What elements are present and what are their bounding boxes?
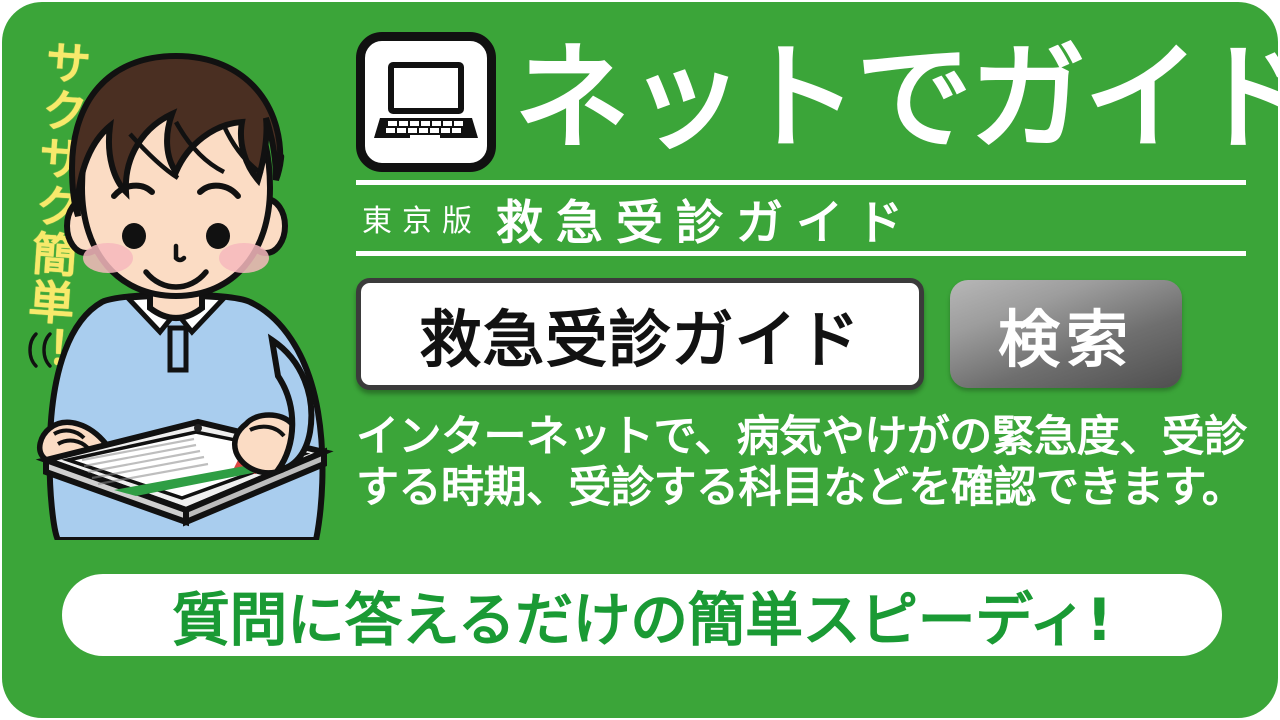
footer-banner-text: 質問に答えるだけの簡単スピーディ! xyxy=(172,573,1112,657)
boy-with-tablet-svg xyxy=(10,40,355,540)
search-input-value: 救急受診ガイド xyxy=(419,289,860,379)
search-button[interactable]: 検索 xyxy=(950,280,1182,388)
content-column: ネットでガイド 東京版 救急受診ガイド 救急受診ガイド 検索 インターネットで、… xyxy=(356,28,1256,513)
subtitle-band: 東京版 救急受診ガイド xyxy=(356,180,1246,256)
banner-root: サクサク簡単！ xyxy=(0,0,1280,720)
page-title: ネットでガイド xyxy=(514,41,1280,157)
title-row: ネットでガイド xyxy=(356,28,1256,176)
description-text: インターネットで、病気やけがの緊急度、受診 する時期、受診する科目などを確認でき… xyxy=(356,412,1256,513)
subtitle-region-label: 東京版 xyxy=(362,196,482,240)
subtitle-service-name: 救急受診ガイド xyxy=(496,184,916,253)
description-line-2: する時期、受診する科目などを確認できます。 xyxy=(356,463,1256,514)
search-input[interactable]: 救急受診ガイド xyxy=(356,278,924,390)
laptop-icon xyxy=(356,32,496,172)
description-line-1: インターネットで、病気やけがの緊急度、受診 xyxy=(356,412,1256,463)
footer-banner: 質問に答えるだけの簡単スピーディ! xyxy=(62,574,1222,656)
laptop-icon-glyph xyxy=(372,56,480,148)
search-button-label: 検索 xyxy=(998,289,1134,379)
search-row: 救急受診ガイド 検索 xyxy=(356,278,1256,390)
character-illustration xyxy=(10,40,355,540)
